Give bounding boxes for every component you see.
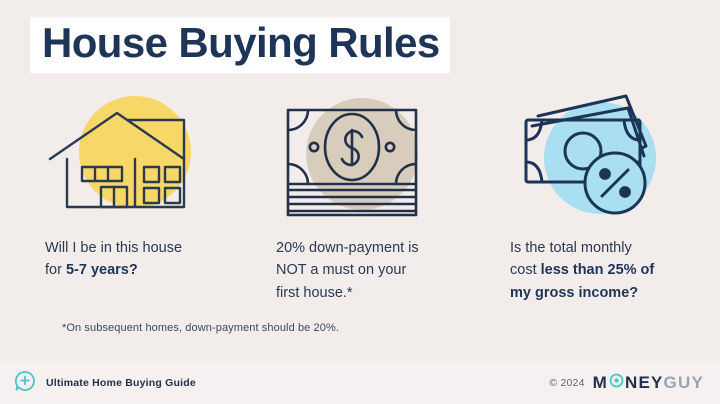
rule-column-2: 20% down-payment is NOT a must on your f… — [240, 88, 480, 304]
cash-percent-icon-svg — [510, 88, 685, 223]
rule-caption-2-plain: 20% down-payment is NOT a must on your f… — [276, 240, 419, 301]
moneyguy-wordmark: M NEY GUY — [593, 373, 704, 393]
speech-bubble-plus-icon — [14, 370, 36, 397]
wordmark-o-logo-icon — [609, 373, 624, 393]
page-title-text: House Buying Rules — [42, 21, 440, 65]
wordmark-ney: NEY — [625, 373, 664, 393]
rule-caption-2: 20% down-payment is NOT a must on your f… — [276, 237, 451, 304]
copyright-text: © 2024 — [549, 377, 584, 389]
house-icon — [45, 88, 220, 223]
footnote: *On subsequent homes, down-payment shoul… — [62, 322, 339, 334]
infographic-canvas: House Buying Rules — [0, 0, 720, 404]
wordmark-m: M — [593, 373, 608, 393]
rule-column-3: Is the total monthly cost less than 25% … — [480, 88, 720, 304]
cash-percent-icon — [510, 88, 685, 223]
rule-caption-1-bold: 5-7 years? — [66, 262, 138, 278]
house-icon-svg — [45, 88, 220, 223]
dollar-bill-icon-svg — [276, 88, 451, 223]
dollar-bill-icon — [276, 88, 451, 223]
page-title: House Buying Rules — [30, 17, 450, 73]
wordmark-guy: GUY — [664, 373, 704, 393]
rule-column-1: Will I be in this house for 5-7 years? — [0, 88, 240, 304]
title-highlight-band: House Buying Rules — [30, 17, 450, 73]
footer-bar: Ultimate Home Buying Guide © 2024 M NEY … — [0, 362, 720, 404]
footer-brand: © 2024 M NEY GUY — [549, 373, 704, 393]
footer-guide[interactable]: Ultimate Home Buying Guide — [14, 370, 196, 397]
rule-caption-3: Is the total monthly cost less than 25% … — [510, 237, 685, 304]
rules-row: Will I be in this house for 5-7 years? — [0, 88, 720, 304]
rule-caption-1: Will I be in this house for 5-7 years? — [45, 237, 220, 282]
footer-guide-label: Ultimate Home Buying Guide — [46, 377, 196, 389]
